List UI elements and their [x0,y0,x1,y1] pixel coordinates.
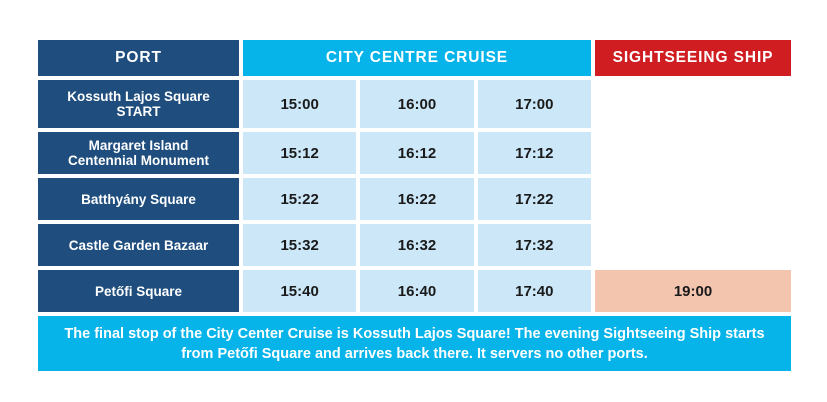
cruise-time-cell: 15:40 [243,270,356,312]
port-name-line1: Margaret Island [68,138,209,153]
cruise-times-group: 15:00 16:00 17:00 [243,80,591,128]
cruise-times-group: 15:32 16:32 17:32 [243,224,591,266]
cruise-time-cell: 16:00 [360,80,473,128]
sightseeing-time-cell [595,132,791,174]
cruise-time-cell: 17:40 [478,270,591,312]
cruise-time-cell: 16:12 [360,132,473,174]
port-name-line1: Petőfi Square [95,284,182,299]
cruise-times-group: 15:12 16:12 17:12 [243,132,591,174]
port-name-cell: Petőfi Square [38,270,239,312]
port-name-cell: Castle Garden Bazaar [38,224,239,266]
cruise-time-cell: 17:12 [478,132,591,174]
table-row: Petőfi Square 15:40 16:40 17:40 19:00 [38,270,791,312]
cruise-time-cell: 17:22 [478,178,591,220]
port-name-cell: Margaret Island Centennial Monument [38,132,239,174]
cruise-time-cell: 15:32 [243,224,356,266]
table-row: Batthyány Square 15:22 16:22 17:22 [38,178,791,220]
sightseeing-time-cell [595,80,791,128]
port-name-line1: Batthyány Square [81,192,196,207]
cruise-time-cell: 15:22 [243,178,356,220]
port-name-line1: Kossuth Lajos Square [67,89,210,104]
column-header-port: PORT [38,40,239,76]
port-name-line2: START [67,104,210,119]
cruise-time-cell: 16:40 [360,270,473,312]
cruise-time-cell: 15:12 [243,132,356,174]
cruise-time-cell: 16:22 [360,178,473,220]
table-row: Kossuth Lajos Square START 15:00 16:00 1… [38,80,791,128]
cruise-time-cell: 17:32 [478,224,591,266]
port-name-line1: Castle Garden Bazaar [69,238,209,253]
table-row: Margaret Island Centennial Monument 15:1… [38,132,791,174]
cruise-time-cell: 16:32 [360,224,473,266]
cruise-times-group: 15:40 16:40 17:40 [243,270,591,312]
sightseeing-time-cell: 19:00 [595,270,791,312]
port-name-line2: Centennial Monument [68,153,209,168]
footer-note: The final stop of the City Center Cruise… [38,316,791,371]
column-header-city-centre-cruise: CITY CENTRE CRUISE [243,40,591,76]
cruise-times-group: 15:22 16:22 17:22 [243,178,591,220]
cruise-time-cell: 17:00 [478,80,591,128]
column-header-sightseeing-ship: SIGHTSEEING SHIP [595,40,791,76]
table-row: Castle Garden Bazaar 15:32 16:32 17:32 [38,224,791,266]
table-header-row: PORT CITY CENTRE CRUISE SIGHTSEEING SHIP [38,40,791,76]
port-name-cell: Kossuth Lajos Square START [38,80,239,128]
sightseeing-time-cell [595,224,791,266]
timetable: PORT CITY CENTRE CRUISE SIGHTSEEING SHIP… [38,40,791,371]
sightseeing-time-cell [595,178,791,220]
port-name-cell: Batthyány Square [38,178,239,220]
cruise-time-cell: 15:00 [243,80,356,128]
